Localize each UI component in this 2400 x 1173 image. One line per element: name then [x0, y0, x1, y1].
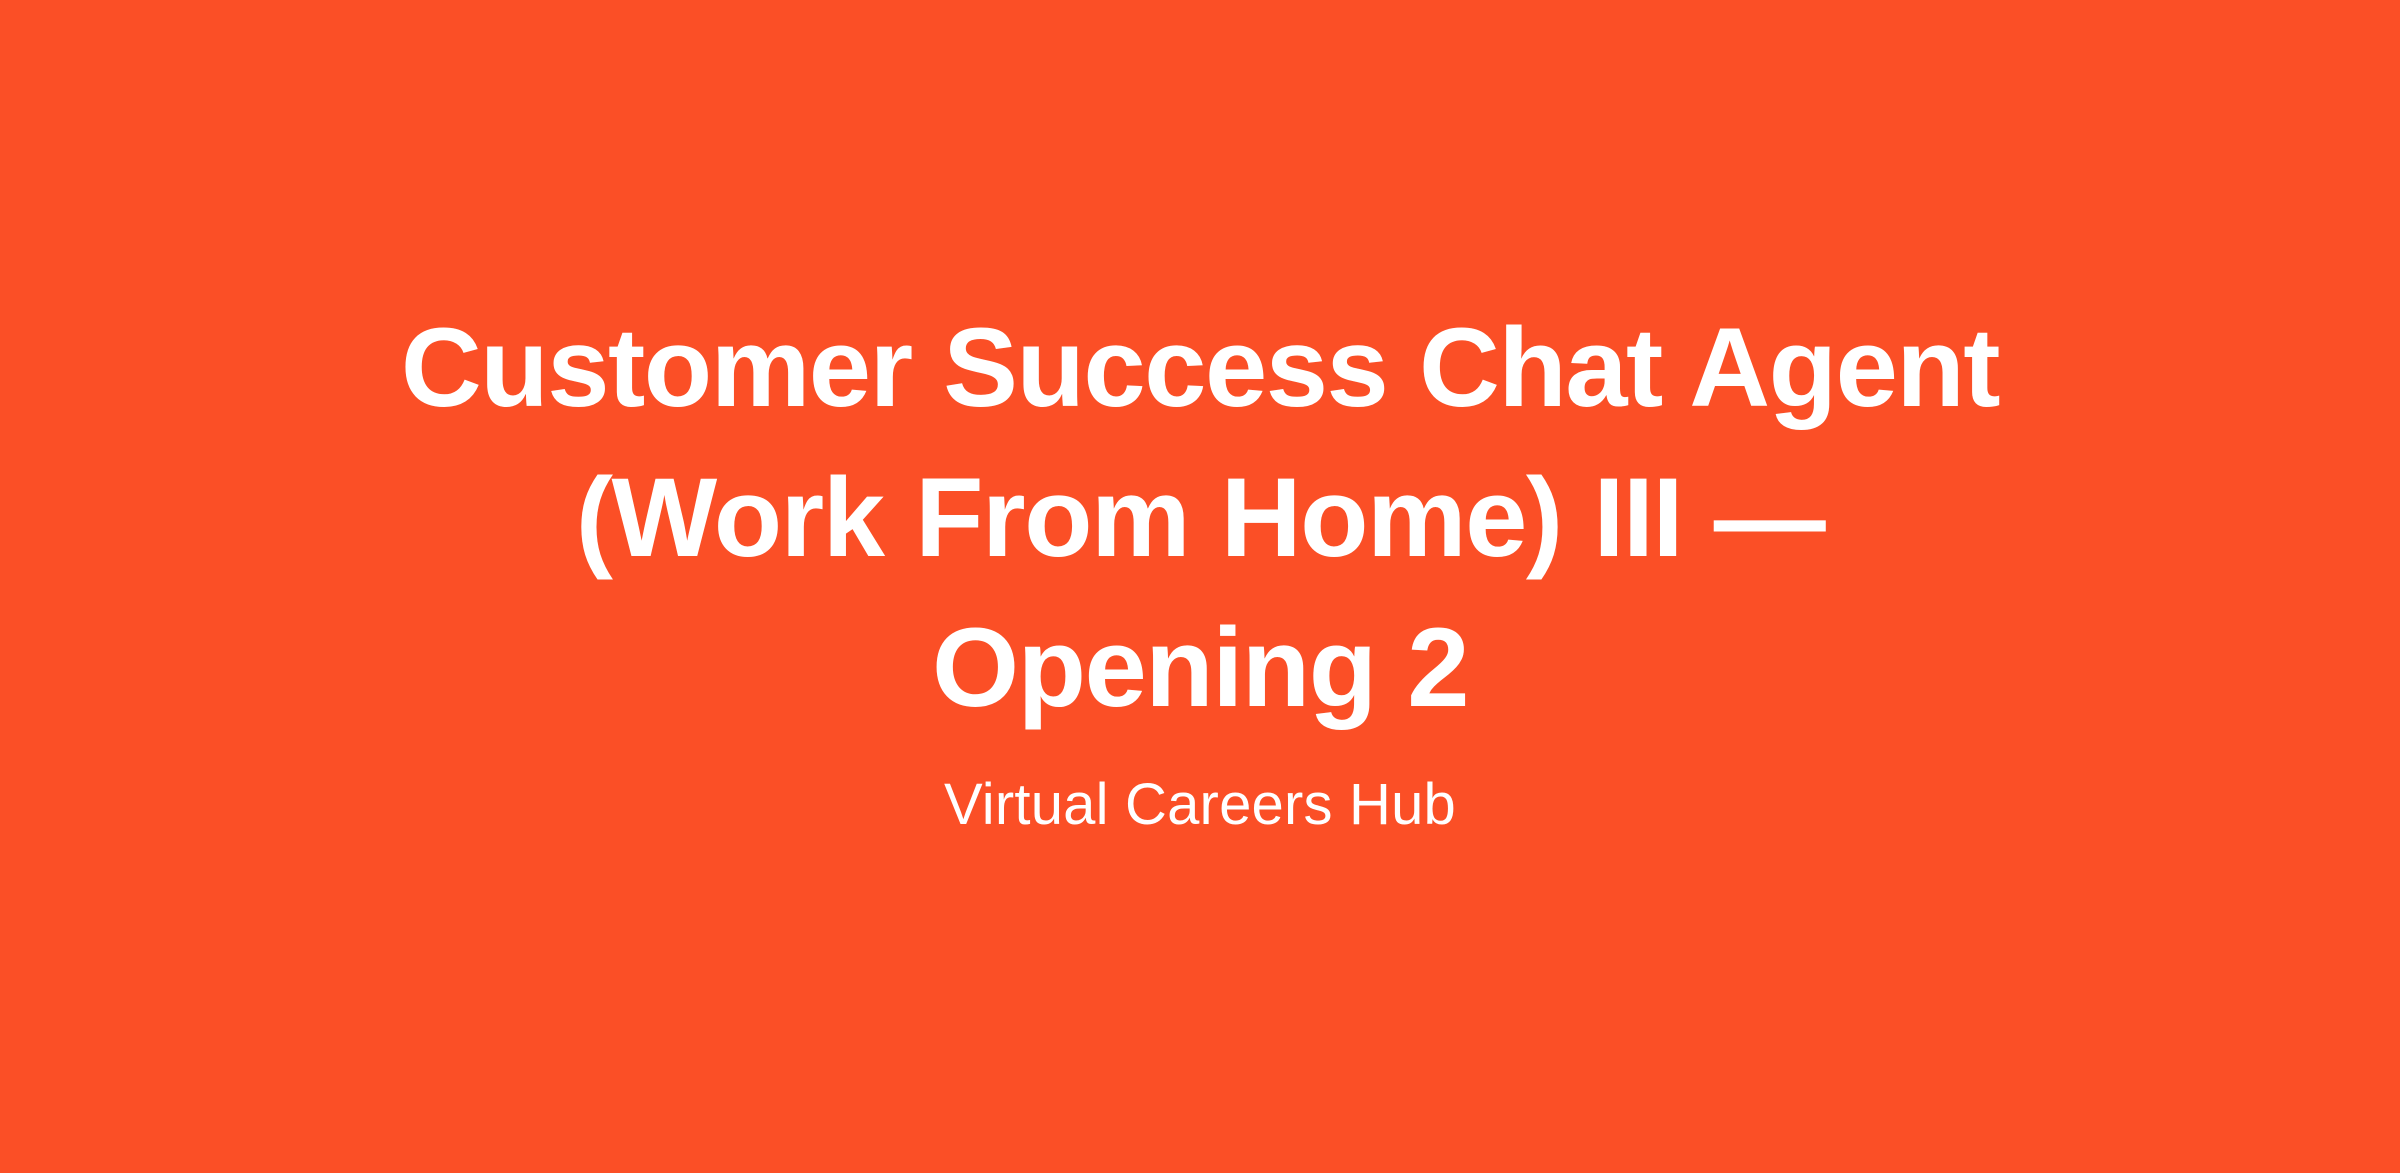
- page-title: Customer Success Chat Agent (Work From H…: [370, 293, 2030, 743]
- organization-subtitle: Virtual Careers Hub: [944, 769, 1456, 841]
- job-posting-card: Customer Success Chat Agent (Work From H…: [0, 0, 2400, 1173]
- job-posting-text-block: Customer Success Chat Agent (Work From H…: [350, 293, 2050, 841]
